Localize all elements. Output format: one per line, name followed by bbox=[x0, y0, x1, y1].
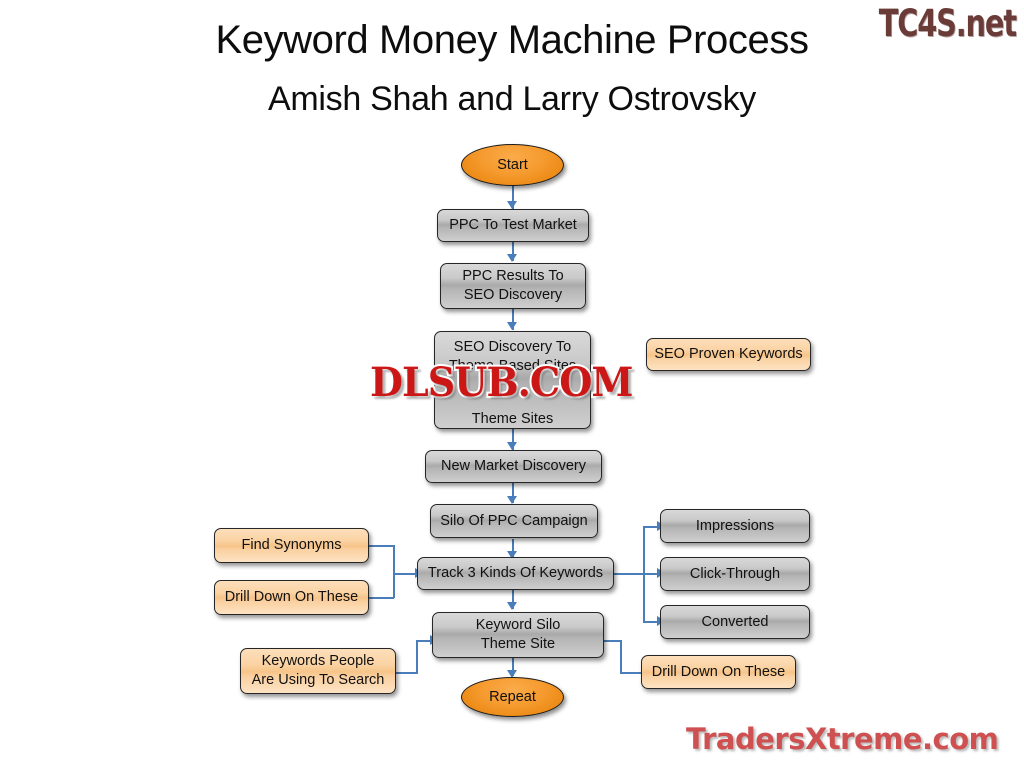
watermark-tradersxtreme: TradersXtreme.com bbox=[686, 722, 998, 756]
node-drill-down-on-these-left[interactable]: Drill Down On These bbox=[214, 580, 369, 615]
node-converted[interactable]: Converted bbox=[660, 605, 810, 639]
node-ppc-to-test-market[interactable]: PPC To Test Market bbox=[437, 209, 589, 242]
node-new-market-discovery[interactable]: New Market Discovery bbox=[425, 450, 602, 483]
edge-drillleft-h bbox=[369, 597, 394, 599]
node-drill-down-on-these-right-label: Drill Down On These bbox=[642, 663, 795, 682]
node-silo-of-ppc-campaign-label: Silo Of PPC Campaign bbox=[431, 512, 597, 531]
edge-keywordsppl-v bbox=[416, 640, 418, 673]
node-find-synonyms[interactable]: Find Synonyms bbox=[214, 528, 369, 563]
edge-track3-out bbox=[614, 573, 644, 575]
edge-drillright-v bbox=[620, 640, 622, 673]
arrowhead-ppctest-ppcresults bbox=[507, 254, 517, 262]
node-seo-proven-keywords-label: SEO Proven Keywords bbox=[647, 345, 810, 364]
edge-drillleft-v bbox=[393, 573, 395, 598]
node-repeat[interactable]: Repeat bbox=[461, 677, 564, 717]
arrowhead-start-ppctest bbox=[507, 201, 517, 209]
node-converted-label: Converted bbox=[661, 613, 809, 632]
node-start-label: Start bbox=[462, 156, 563, 175]
node-find-synonyms-label: Find Synonyms bbox=[215, 536, 368, 555]
node-drill-down-on-these-left-label: Drill Down On These bbox=[215, 588, 368, 607]
node-drill-down-on-these-right[interactable]: Drill Down On These bbox=[641, 655, 796, 689]
edge-keywordsppl-h bbox=[396, 672, 418, 674]
node-ppc-results-to-seo-discovery-label: PPC Results To SEO Discovery bbox=[441, 267, 585, 304]
slide-canvas: Keyword Money Machine Process Amish Shah… bbox=[0, 0, 1024, 768]
node-keywords-people-are-using-to-search-label: Keywords People Are Using To Search bbox=[241, 652, 395, 689]
edge-drillright-h bbox=[620, 672, 642, 674]
node-track-3-kinds-of-keywords[interactable]: Track 3 Kinds Of Keywords bbox=[417, 557, 614, 590]
watermark-tc4s: TC4S.net bbox=[879, 2, 1016, 45]
watermark-dlsub: DLSUB.COM bbox=[370, 359, 632, 406]
arrowhead-newmarket-siloppc bbox=[507, 496, 517, 504]
node-new-market-discovery-label: New Market Discovery bbox=[426, 457, 601, 476]
page-subtitle: Amish Shah and Larry Ostrovsky bbox=[0, 80, 1024, 119]
edge-findsyn-h bbox=[369, 545, 394, 547]
node-ppc-to-test-market-label: PPC To Test Market bbox=[438, 216, 588, 235]
node-impressions[interactable]: Impressions bbox=[660, 509, 810, 543]
node-ppc-results-to-seo-discovery[interactable]: PPC Results To SEO Discovery bbox=[440, 263, 586, 309]
page-title: Keyword Money Machine Process bbox=[0, 18, 1024, 63]
edge-findsyn-v bbox=[393, 545, 395, 573]
node-impressions-label: Impressions bbox=[661, 517, 809, 536]
node-track-3-kinds-of-keywords-label: Track 3 Kinds Of Keywords bbox=[418, 564, 613, 583]
arrowhead-ppcresults-seodiscovery bbox=[507, 322, 517, 330]
node-keywords-people-are-using-to-search[interactable]: Keywords People Are Using To Search bbox=[240, 648, 396, 694]
node-keyword-silo-theme-site[interactable]: Keyword Silo Theme Site bbox=[432, 612, 604, 658]
edge-drillright-into bbox=[604, 640, 622, 642]
node-keyword-silo-theme-site-label: Keyword Silo Theme Site bbox=[433, 616, 603, 653]
edge-left-into-track3 bbox=[393, 573, 417, 575]
node-repeat-label: Repeat bbox=[462, 688, 563, 707]
node-start[interactable]: Start bbox=[461, 144, 564, 186]
node-click-through[interactable]: Click-Through bbox=[660, 557, 810, 591]
node-silo-of-ppc-campaign[interactable]: Silo Of PPC Campaign bbox=[430, 504, 598, 538]
node-seo-proven-keywords[interactable]: SEO Proven Keywords bbox=[646, 338, 811, 371]
arrowhead-seodiscovery-newmarket bbox=[507, 442, 517, 450]
arrowhead-track3-keywordsilo bbox=[507, 602, 517, 610]
node-click-through-label: Click-Through bbox=[661, 565, 809, 584]
